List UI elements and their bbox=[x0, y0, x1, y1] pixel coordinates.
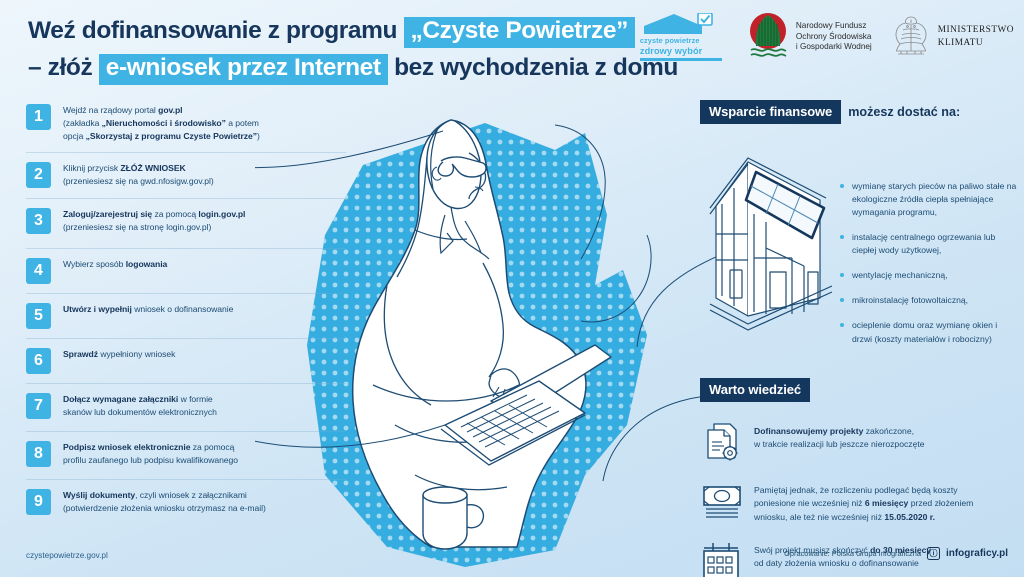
step-item-9[interactable]: 9 Wyślij dokumenty, czyli wniosek z załą… bbox=[26, 488, 346, 528]
polish-eagle-icon bbox=[892, 13, 930, 62]
step-item-1[interactable]: 1 Wejdź na rządowy portal gov.pl(zakładk… bbox=[26, 103, 346, 153]
step-text: Wybierz sposób logowania bbox=[63, 257, 167, 271]
nfosigw-logo: Narodowy Fundusz Ochrony Środowiska i Go… bbox=[746, 12, 872, 63]
ministerstwo-line2: KLIMATU bbox=[938, 37, 1014, 50]
title-part-highlight: „Czyste Powietrze” bbox=[404, 17, 635, 48]
footer-website-link[interactable]: czystepowietrze.gov.pl bbox=[26, 551, 108, 560]
support-bullet-text: mikroinstalację fotowoltaiczną, bbox=[852, 295, 968, 305]
step-text: Wejdź na rządowy portal gov.pl(zakładka … bbox=[63, 103, 260, 143]
support-bullet-text: instalację centralnego ogrzewania lub ci… bbox=[852, 232, 995, 255]
support-section-header: Wsparcie finansowe możesz dostać na: bbox=[700, 100, 1018, 124]
step-text: Podpisz wniosek elektronicznie za pomocą… bbox=[63, 440, 238, 467]
ministerstwo-line1: MINISTERSTWO bbox=[938, 24, 1014, 37]
nfosigw-emblem-icon bbox=[746, 12, 790, 63]
step-item-7[interactable]: 7 Dołącz wymagane załączniki w formieska… bbox=[26, 392, 346, 432]
support-bullet-item: mikroinstalację fotowoltaiczną, bbox=[840, 294, 1018, 307]
ministerstwo-klimatu-text: MINISTERSTWO KLIMATU bbox=[938, 24, 1014, 49]
support-bullet-text: ocieplenie domu oraz wymianę okien i drz… bbox=[852, 320, 997, 343]
step-text: Wyślij dokumenty, czyli wniosek z załącz… bbox=[63, 488, 266, 515]
logo-underline bbox=[640, 58, 722, 61]
worth-knowing-item: Dofinansowujemy projekty zakończone,w tr… bbox=[700, 420, 1018, 464]
page-title-line-1: Weź dofinansowanie z programu „Czyste Po… bbox=[28, 17, 635, 48]
logo-bar: czyste powietrze zdrowy wybór bbox=[640, 8, 1014, 66]
support-section-body: wymianę starych pieców na paliwo stałe n… bbox=[700, 142, 1018, 374]
right-column: Wsparcie finansowe możesz dostać na: bbox=[700, 100, 1018, 577]
step-number-badge: 1 bbox=[26, 104, 51, 130]
step-item-2[interactable]: 2 Kliknij przycisk ZŁÓŻ WNIOSEK(przenies… bbox=[26, 161, 346, 199]
worth-knowing-item: Pamiętaj jednak, że rozliczeniu podlegać… bbox=[700, 479, 1018, 524]
nfosigw-line3: i Gospodarki Wodnej bbox=[796, 42, 872, 53]
ministerstwo-klimatu-logo: MINISTERSTWO KLIMATU bbox=[892, 13, 1014, 62]
steps-list: 1 Wejdź na rządowy portal gov.pl(zakładk… bbox=[26, 103, 346, 536]
step-number-badge: 5 bbox=[26, 303, 51, 329]
support-title-tail: możesz dostać na: bbox=[848, 105, 960, 119]
infograficy-logo-icon: ⓘ bbox=[927, 547, 940, 560]
title-part-plain: Weź dofinansowanie z programu bbox=[28, 17, 397, 44]
czyste-powietrze-logo-line1: czyste powietrze bbox=[640, 36, 700, 45]
subtitle-part-plain: – złóż bbox=[28, 54, 92, 81]
support-bullet-item: ocieplenie domu oraz wymianę okien i drz… bbox=[840, 319, 1018, 345]
support-bullet-text: wymianę starych pieców na paliwo stałe n… bbox=[852, 181, 1016, 217]
nfosigw-logo-text: Narodowy Fundusz Ochrony Środowiska i Go… bbox=[796, 21, 872, 53]
step-number-badge: 8 bbox=[26, 441, 51, 467]
czyste-powietrze-logo: czyste powietrze zdrowy wybór bbox=[640, 13, 726, 61]
support-bullet-item: instalację centralnego ogrzewania lub ci… bbox=[840, 231, 1018, 257]
step-item-8[interactable]: 8 Podpisz wniosek elektronicznie za pomo… bbox=[26, 440, 346, 480]
step-number-badge: 4 bbox=[26, 258, 51, 284]
step-item-4[interactable]: 4 Wybierz sposób logowania bbox=[26, 257, 346, 294]
house-roof-check-icon bbox=[640, 13, 722, 35]
step-text: Sprawdź wypełniony wniosek bbox=[63, 347, 175, 361]
bullet-dot-icon bbox=[840, 235, 844, 239]
step-text: Dołącz wymagane załączniki w formieskanó… bbox=[63, 392, 217, 419]
step-number-badge: 3 bbox=[26, 208, 51, 234]
step-item-6[interactable]: 6 Sprawdź wypełniony wniosek bbox=[26, 347, 346, 384]
calendar-icon bbox=[700, 539, 744, 577]
support-bullet-text: wentylację mechaniczną, bbox=[852, 270, 948, 280]
header: Weź dofinansowanie z programu „Czyste Po… bbox=[0, 0, 1024, 92]
footer-credit-text: Opracowanie: Polska Grupa Infograficzna bbox=[784, 549, 921, 558]
nfosigw-line1: Narodowy Fundusz bbox=[796, 21, 872, 32]
document-gear-icon bbox=[700, 420, 744, 464]
bullet-dot-icon bbox=[840, 298, 844, 302]
step-item-3[interactable]: 3 Zaloguj/zarejestruj się za pomocą logi… bbox=[26, 207, 346, 249]
support-bullet-list: wymianę starych pieców na paliwo stałe n… bbox=[840, 180, 1018, 358]
nfosigw-line2: Ochrony Środowiska bbox=[796, 32, 872, 43]
infographic-page: Weź dofinansowanie z programu „Czyste Po… bbox=[0, 0, 1024, 577]
support-bullet-item: wymianę starych pieców na paliwo stałe n… bbox=[840, 180, 1018, 219]
footer-brand-name[interactable]: infograficy.pl bbox=[946, 548, 1008, 559]
bullet-dot-icon bbox=[840, 323, 844, 327]
step-item-5[interactable]: 5 Utwórz i wypełnij wniosek o dofinansow… bbox=[26, 302, 346, 339]
support-bullet-item: wentylację mechaniczną, bbox=[840, 269, 1018, 282]
step-text: Utwórz i wypełnij wniosek o dofinansowan… bbox=[63, 302, 233, 316]
bullet-dot-icon bbox=[840, 184, 844, 188]
subtitle-part-tail: bez wychodzenia z domu bbox=[394, 54, 678, 81]
worth-knowing-header: Warto wiedzieć bbox=[700, 378, 1018, 402]
page-title-line-2: – złóż e-wniosek przez Internet bez wych… bbox=[28, 54, 678, 85]
banknote-icon bbox=[700, 479, 744, 523]
worth-knowing-title-chip: Warto wiedzieć bbox=[700, 378, 810, 402]
step-number-badge: 7 bbox=[26, 393, 51, 419]
step-number-badge: 2 bbox=[26, 162, 51, 188]
subtitle-part-highlight: e-wniosek przez Internet bbox=[99, 54, 388, 85]
step-number-badge: 9 bbox=[26, 489, 51, 515]
step-text: Kliknij przycisk ZŁÓŻ WNIOSEK(przeniesie… bbox=[63, 161, 214, 188]
bullet-dot-icon bbox=[840, 273, 844, 277]
house-with-solar-panels-icon bbox=[708, 148, 836, 343]
worth-knowing-text: Dofinansowujemy projekty zakończone,w tr… bbox=[754, 420, 925, 452]
czyste-powietrze-logo-line2: zdrowy wybór bbox=[640, 46, 702, 56]
support-title-chip: Wsparcie finansowe bbox=[700, 100, 841, 124]
step-number-badge: 6 bbox=[26, 348, 51, 374]
footer-credit: Opracowanie: Polska Grupa Infograficzna … bbox=[784, 547, 1008, 560]
worth-knowing-text: Pamiętaj jednak, że rozliczeniu podlegać… bbox=[754, 479, 973, 524]
step-text: Zaloguj/zarejestruj się za pomocą login.… bbox=[63, 207, 245, 234]
